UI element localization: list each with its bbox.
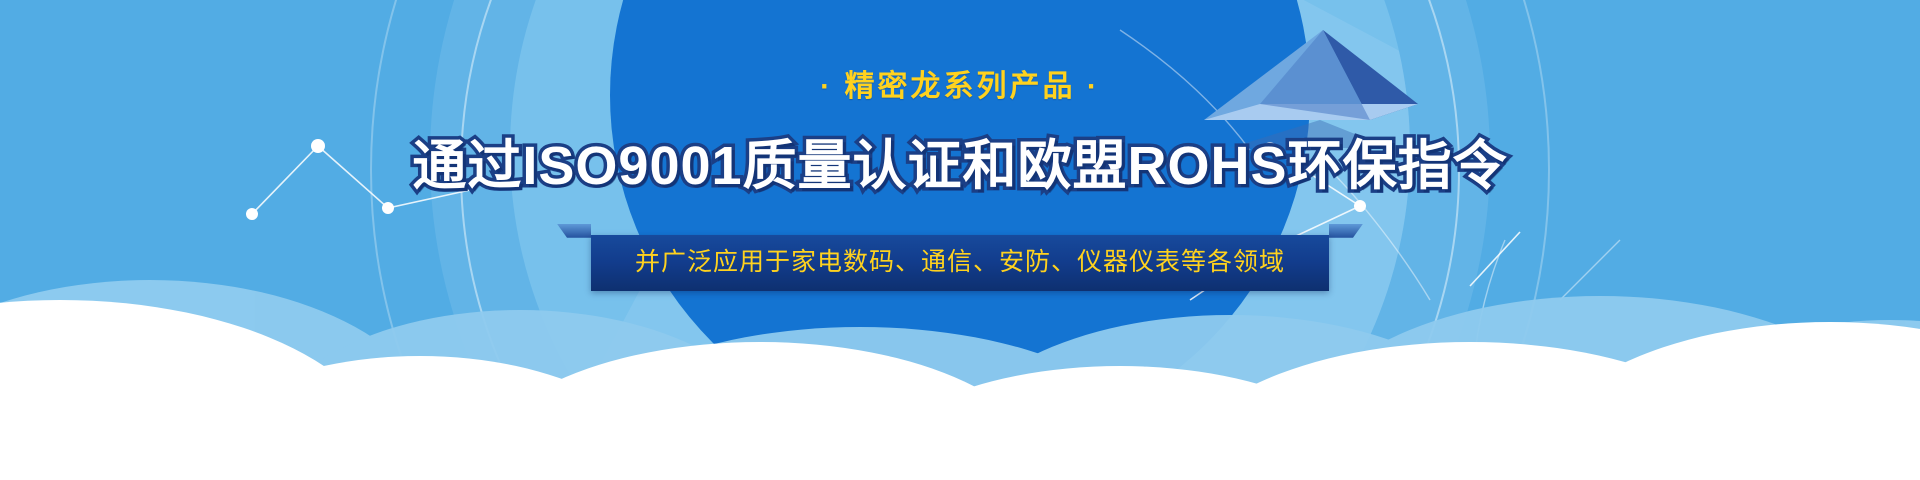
banner-content: · 精密龙系列产品 · 通过ISO9001质量认证和欧盟ROHS环保指令 并广泛… [0, 0, 1920, 480]
ribbon-tail-right-icon [1329, 224, 1363, 238]
banner-ribbon-text: 并广泛应用于家电数码、通信、安防、仪器仪表等各领域 [635, 250, 1285, 275]
promo-banner: · 精密龙系列产品 · 通过ISO9001质量认证和欧盟ROHS环保指令 并广泛… [0, 0, 1920, 480]
banner-eyebrow: · 精密龙系列产品 · [820, 72, 1100, 102]
ribbon-tail-left-icon [557, 224, 591, 238]
ribbon-body: 并广泛应用于家电数码、通信、安防、仪器仪表等各领域 [591, 235, 1329, 291]
banner-ribbon: 并广泛应用于家电数码、通信、安防、仪器仪表等各领域 [591, 235, 1329, 291]
banner-headline: 通过ISO9001质量认证和欧盟ROHS环保指令 [412, 138, 1507, 195]
